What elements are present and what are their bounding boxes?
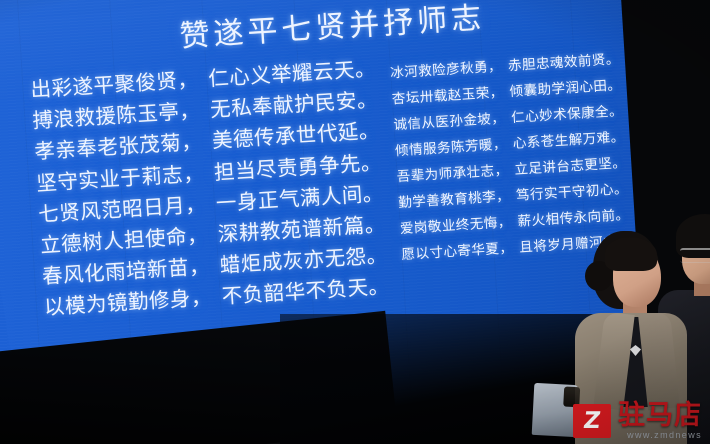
zmdnews-logo-icon: Z bbox=[573, 404, 611, 438]
poem-title: 赞遂平七贤并抒师志 bbox=[178, 0, 486, 55]
watermark-text-block: 驻马店 www.zmdnews bbox=[618, 402, 702, 440]
poem-line: 愿以寸心寄华夏， bbox=[401, 235, 514, 268]
watermark: Z 驻马店 www.zmdnews bbox=[573, 402, 702, 440]
poem-column-4: 赤胆忠魂效前贤。 倾囊助学润心田。 仁心妙术保康全。 心系苍生解万难。 立足讲台… bbox=[507, 38, 632, 261]
poem-column-2: 仁心义举耀云天。 无私奉献护民安。 美德传承世代延。 担当尽责勇争先。 一身正气… bbox=[207, 53, 390, 313]
screenshot-stage: 赞遂平七贤并抒师志 出彩遂平聚俊贤， 搏浪救援陈玉亭， 孝亲奉老张茂菊， 坚守实… bbox=[0, 0, 710, 444]
logo-glyph: Z bbox=[571, 404, 614, 438]
poem-columns: 出彩遂平聚俊贤， 搏浪救援陈玉亭， 孝亲奉老张茂菊， 坚守实业于莉志， 七贤风范… bbox=[30, 38, 634, 324]
poem-column-3: 冰河救险彦秋勇， 杏坛卅载赵玉荣， 诚信从医孙金坡， 倾情服务陈芳暖， 吾辈为师… bbox=[389, 46, 514, 269]
watermark-name: 驻马店 bbox=[618, 402, 702, 429]
woman-hair-front bbox=[605, 237, 657, 271]
poem-column-1: 出彩遂平聚俊贤， 搏浪救援陈玉亭， 孝亲奉老张茂菊， 坚守实业于莉志， 七贤风范… bbox=[30, 64, 213, 324]
watermark-url: www.zmdnews bbox=[618, 431, 702, 440]
